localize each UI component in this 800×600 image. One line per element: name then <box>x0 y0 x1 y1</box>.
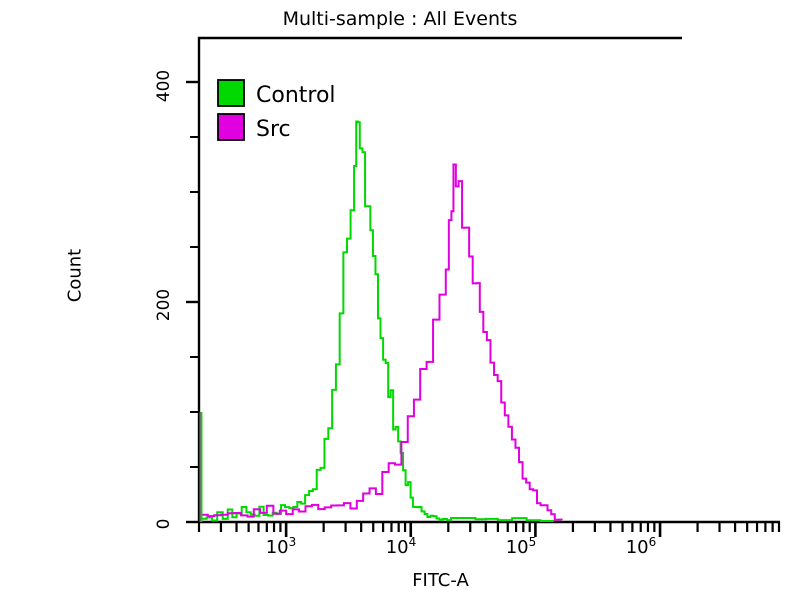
x-axis-label: FITC-A <box>199 570 682 591</box>
legend: ControlSrc <box>218 80 336 142</box>
axis-ticks <box>186 82 779 537</box>
x-tick-exponent: 5 <box>529 535 537 549</box>
x-tick-mantissa: 10 <box>386 537 409 558</box>
x-tick-mantissa: 10 <box>266 537 289 558</box>
x-tick-label-1e5: 105 <box>491 535 551 558</box>
x-tick-label-1e3: 103 <box>251 535 311 558</box>
x-tick-label-1e4: 104 <box>371 535 431 558</box>
series-trace-control <box>202 121 554 521</box>
flow-cytometry-figure: Multi-sample : All Events FITC-A Count 4… <box>0 0 800 600</box>
x-tick-mantissa: 10 <box>626 537 649 558</box>
x-tick-label-1e6: 106 <box>611 535 671 558</box>
chart-title: Multi-sample : All Events <box>0 8 800 30</box>
legend-swatch-control <box>218 80 244 106</box>
x-tick-exponent: 4 <box>409 535 417 549</box>
x-tick-exponent: 6 <box>649 535 657 549</box>
x-tick-exponent: 3 <box>289 535 297 549</box>
plot-canvas: ControlSrc <box>0 0 800 600</box>
series-trace-src <box>202 165 562 520</box>
x-tick-mantissa: 10 <box>506 537 529 558</box>
y-tick-label-400: 400 <box>154 58 174 114</box>
legend-label-control: Control <box>256 83 336 108</box>
y-tick-label-0: 0 <box>154 496 174 552</box>
series-layer <box>200 121 562 522</box>
axis-frame <box>199 38 780 522</box>
legend-label-src: Src <box>256 117 291 142</box>
y-tick-label-200: 200 <box>154 277 174 333</box>
y-axis-label: Count <box>65 196 86 356</box>
legend-swatch-src <box>218 114 244 140</box>
